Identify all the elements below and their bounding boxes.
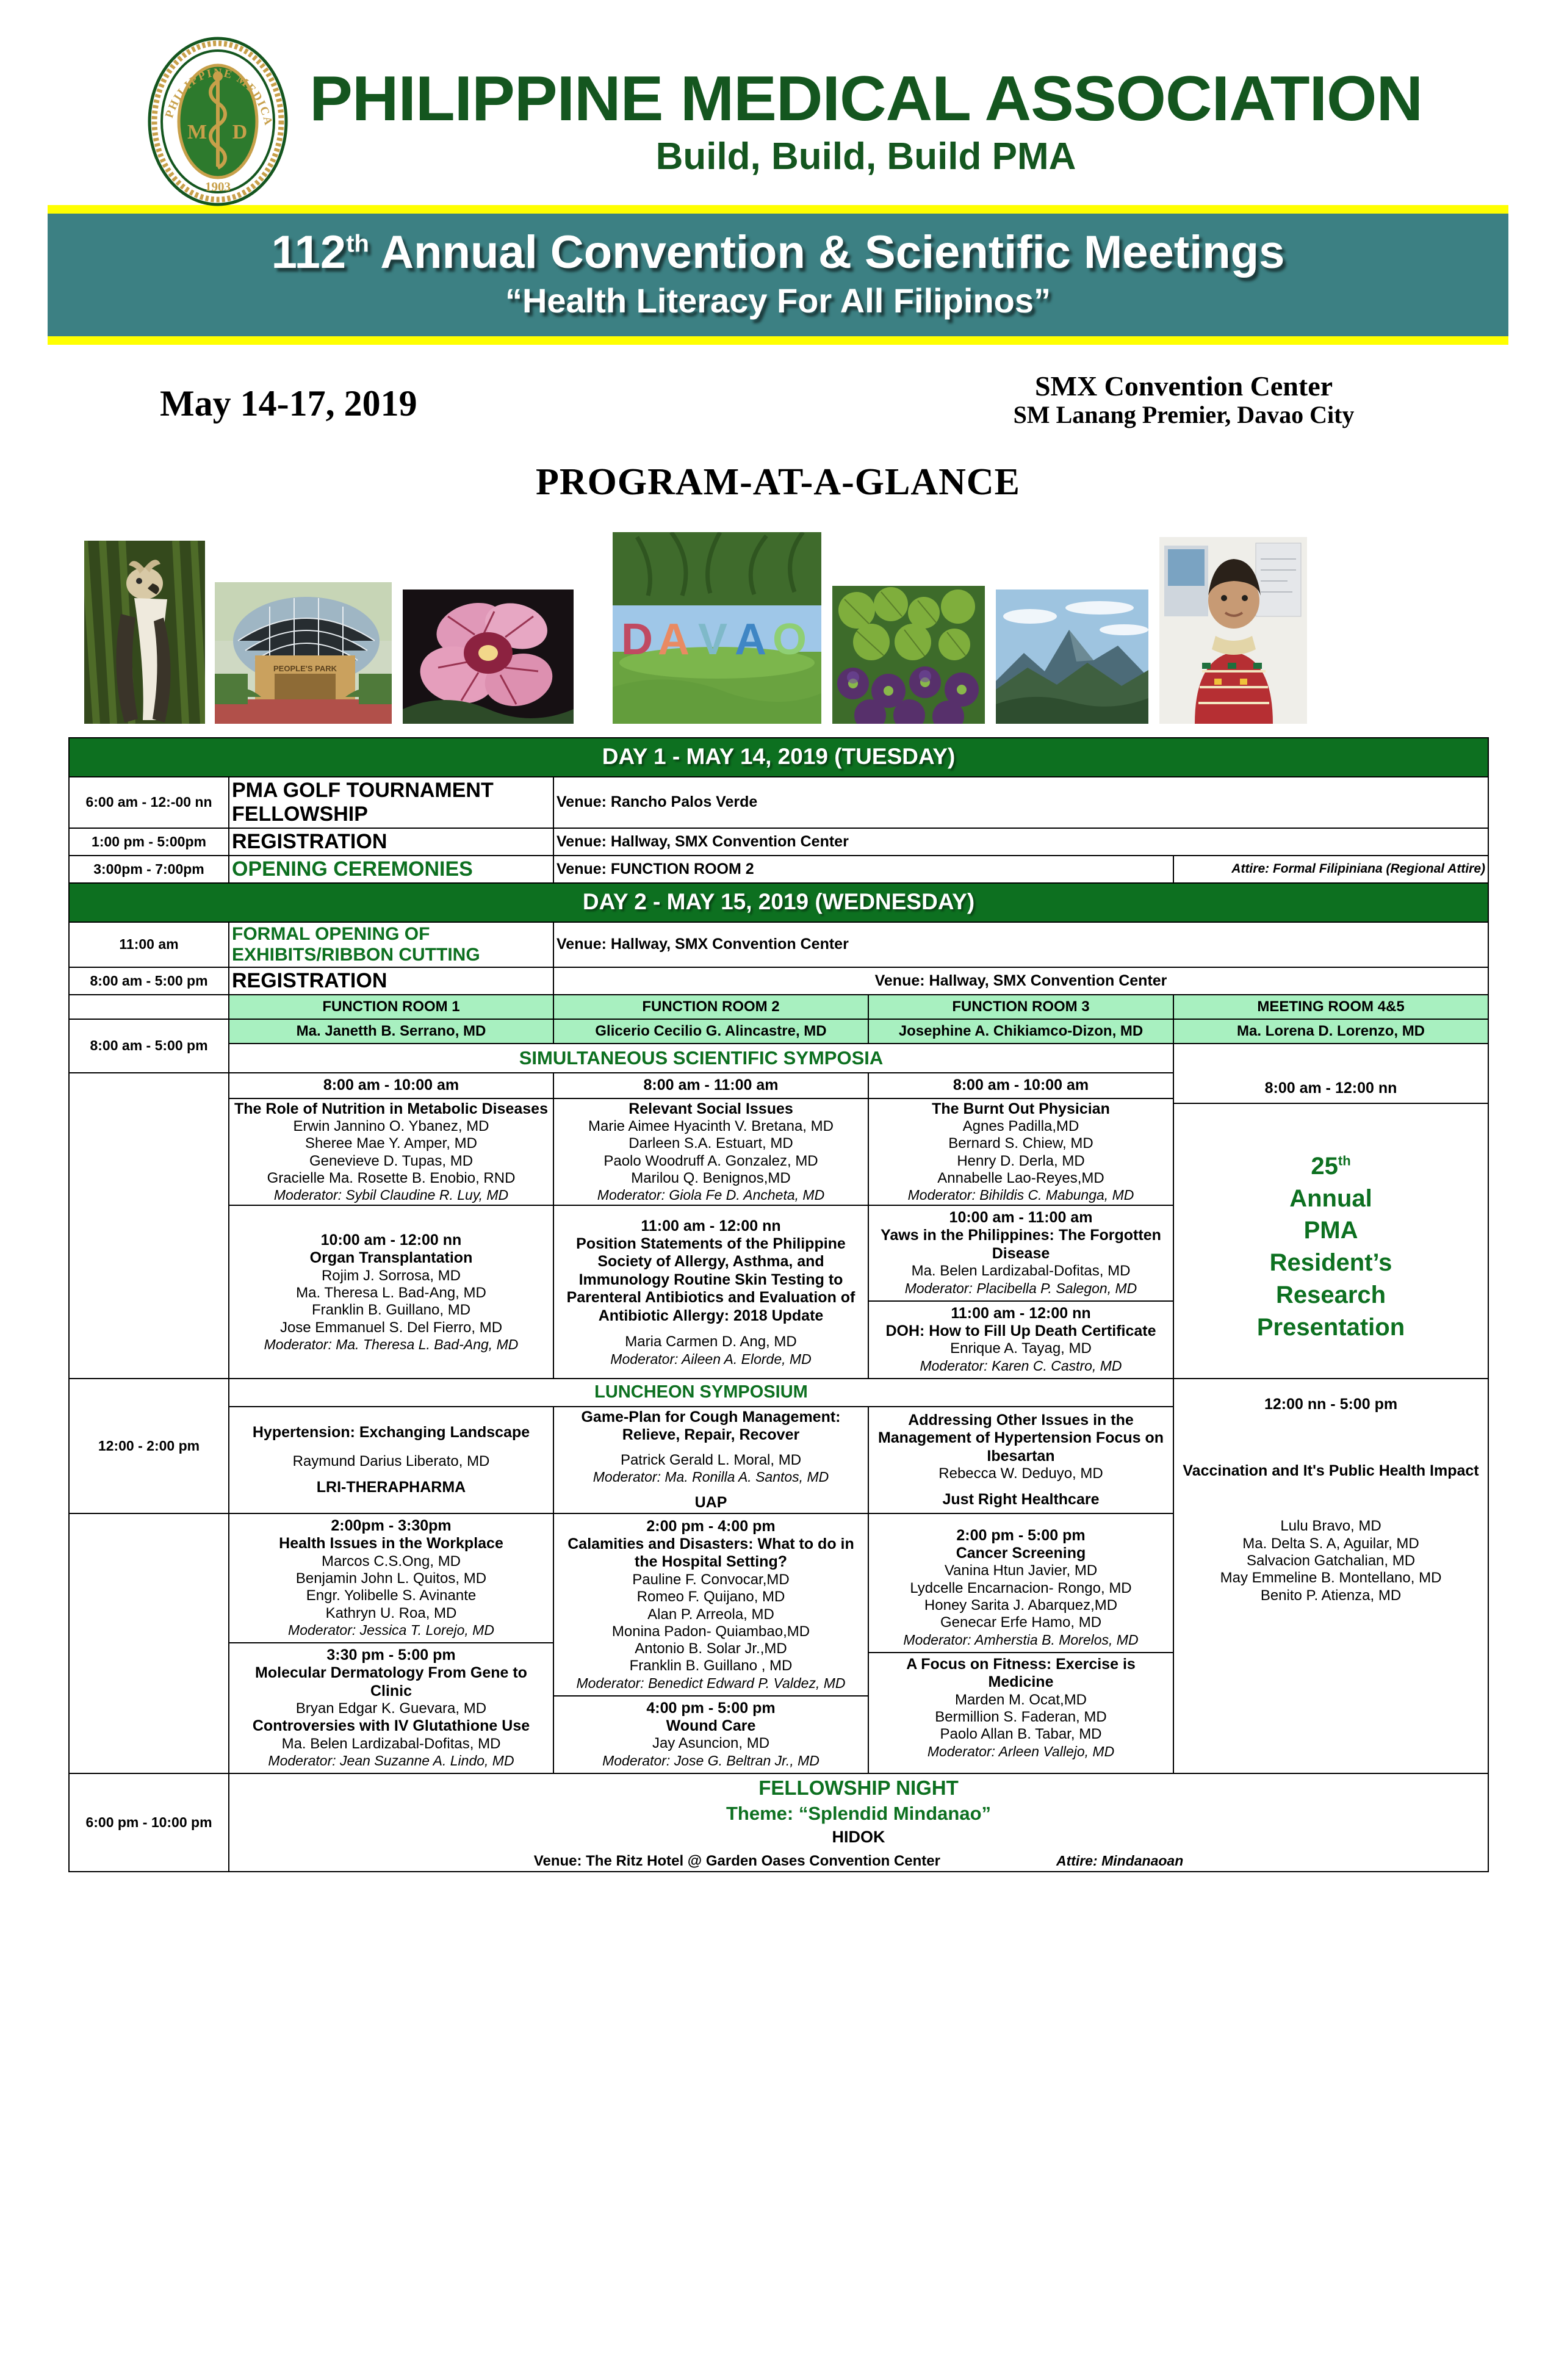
day2-reg-time: 8:00 am - 5:00 pm	[69, 967, 229, 995]
venue-line-1: SMX Convention Center	[952, 370, 1416, 402]
fellowship-night-row: 6:00 pm - 10:00 pm FELLOWSHIP NIGHT Them…	[69, 1773, 1488, 1871]
day2-row-registration: 8:00 am - 5:00 pm REGISTRATION Venue: Ha…	[69, 967, 1488, 995]
session-title: A Focus on Fitness: Exercise is Medicine	[873, 1656, 1169, 1692]
moderator: Moderator: Arleen Vallejo, MD	[873, 1744, 1169, 1760]
svg-text:1903: 1903	[205, 179, 231, 194]
page-title: PROGRAM-AT-A-GLANCE	[0, 461, 1556, 504]
session-time: 11:00 am - 12:00 nn	[873, 1304, 1169, 1322]
masthead-text: PHILIPPINE MEDICAL ASSOCIATION Build, Bu…	[320, 67, 1411, 176]
session-title: Vaccination and It's Public Health Impac…	[1176, 1462, 1485, 1480]
afternoon-room2-stack: 2:00 pm - 4:00 pm Calamities and Disaste…	[553, 1513, 868, 1773]
day1-golf-time: 6:00 am - 12:-00 nn	[69, 777, 229, 828]
room-header-time-spacer	[69, 995, 229, 1019]
session-title: Wound Care	[558, 1717, 864, 1736]
session-title-secondary: Controversies with IV Glutathione Use	[233, 1717, 549, 1736]
afternoon-room1-workplace: 2:00pm - 3:30pm Health Issues in the Wor…	[229, 1514, 553, 1643]
rrp-line-2: PMA	[1176, 1214, 1485, 1247]
speaker: Jay Asuncion, MD	[558, 1735, 864, 1752]
luncheon-room2-cough-management: Game-Plan for Cough Management: Relieve,…	[553, 1407, 868, 1513]
sponsor: LRI-THERAPHARMA	[232, 1470, 550, 1496]
davao-photo-strip: PEOPLE'S PARK	[0, 522, 1556, 724]
speaker: Rebecca W. Deduyo, MD	[871, 1465, 1170, 1482]
speaker: Lulu Bravo, MD	[1176, 1518, 1485, 1535]
svg-text:M: M	[187, 121, 207, 143]
room-header-row: FUNCTION ROOM 1 FUNCTION ROOM 2 FUNCTION…	[69, 995, 1488, 1019]
banner-title-text: Annual Convention & Scientific Meetings	[380, 226, 1284, 278]
chair-row: 8:00 am - 5:00 pm Ma. Janetth B. Serrano…	[69, 1019, 1488, 1044]
speaker: Henry D. Derla, MD	[871, 1153, 1170, 1170]
session-room1-organ-transplantation: 10:00 am - 12:00 nn Organ Transplantatio…	[229, 1205, 553, 1378]
day1-reg-time: 1:00 pm - 5:00pm	[69, 828, 229, 856]
speaker: Marden M. Ocat,MD	[873, 1692, 1169, 1709]
speaker: Kathryn U. Roa, MD	[233, 1605, 549, 1622]
day1-reg-event: REGISTRATION	[229, 828, 553, 856]
day1-golf-event: PMA GOLF TOURNAMENT FELLOWSHIP	[229, 777, 553, 828]
waling-waling-orchid-photo	[403, 590, 574, 724]
chair-function-room-3: Josephine A. Chikiamco-Dizon, MD	[868, 1019, 1173, 1044]
day1-row-registration: 1:00 pm - 5:00pm REGISTRATION Venue: Hal…	[69, 828, 1488, 856]
luncheon-symposium-label: LUNCHEON SYMPOSIUM	[229, 1379, 1173, 1407]
day2-row-exhibits: 11:00 am FORMAL OPENING OF EXHIBITS/RIBB…	[69, 922, 1488, 967]
svg-text:A: A	[735, 615, 766, 664]
day2-exhibits-venue: Venue: Hallway, SMX Convention Center	[553, 922, 1488, 967]
event-meta: May 14-17, 2019 SMX Convention Center SM…	[0, 366, 1556, 457]
speaker: Vanina Htun Javier, MD	[873, 1562, 1169, 1579]
rrp-slot-time: 8:00 am - 12:00 nn	[1173, 1076, 1489, 1104]
speaker: Patrick Gerald L. Moral, MD	[556, 1452, 865, 1469]
moderator: Moderator: Benedict Edward P. Valdez, MD	[558, 1675, 864, 1692]
session-title: Molecular Dermatology From Gene to Clini…	[233, 1664, 549, 1700]
session-time: 2:00pm - 3:30pm	[233, 1516, 549, 1535]
day1-opening-time: 3:00pm - 7:00pm	[69, 856, 229, 883]
afternoon-room3-fitness: A Focus on Fitness: Exercise is Medicine…	[869, 1653, 1173, 1764]
svg-text:O: O	[773, 615, 807, 664]
slot-room2-morning: 8:00 am - 11:00 am	[553, 1073, 868, 1098]
speaker: Jose Emmanuel S. Del Fierro, MD	[232, 1319, 550, 1336]
speaker: Ma. Belen Lardizabal-Dofitas, MD	[873, 1263, 1169, 1280]
room-header-meeting-room-45: MEETING ROOM 4&5	[1173, 995, 1488, 1019]
svg-text:D: D	[621, 615, 653, 664]
session-time: 2:00 pm - 5:00 pm	[873, 1526, 1169, 1545]
luncheon-room3-ibesartan: Addressing Other Issues in the Managemen…	[868, 1407, 1173, 1513]
luncheon-time: 12:00 - 2:00 pm	[69, 1379, 229, 1513]
speaker: Agnes Padilla,MD	[871, 1118, 1170, 1135]
fellowship-venue: Venue: The Ritz Hotel @ Garden Oases Con…	[534, 1853, 940, 1870]
chair-meeting-room-45: Ma. Lorena D. Lorenzo, MD	[1173, 1019, 1488, 1044]
speaker: Bryan Edgar K. Guevara, MD	[233, 1700, 549, 1717]
convention-banner: 112th Annual Convention & Scientific Mee…	[48, 205, 1508, 345]
day1-opening-attire: Attire: Formal Filipiniana (Regional Att…	[1173, 856, 1488, 883]
morning-time-col-spacer	[69, 1073, 229, 1379]
banner-theme: “Health Literacy For All Filipinos”	[48, 283, 1508, 319]
speaker: Marcos C.S.Ong, MD	[233, 1553, 549, 1570]
fellowship-attire: Attire: Mindanaoan	[1056, 1853, 1183, 1870]
day1-opening-event: OPENING CEREMONIES	[229, 856, 553, 883]
slot-room1-morning: 8:00 am - 10:00 am	[229, 1073, 553, 1098]
day2-exhibits-event: FORMAL OPENING OF EXHIBITS/RIBBON CUTTIN…	[229, 922, 553, 967]
banner-bottom-stripe	[48, 336, 1508, 345]
session-title: Cancer Screening	[873, 1545, 1169, 1563]
speaker: Marilou Q. Benignos,MD	[556, 1170, 865, 1187]
fellowship-detail-row: Venue: The Ritz Hotel @ Garden Oases Con…	[232, 1853, 1485, 1870]
speaker: Antonio B. Solar Jr.,MD	[558, 1640, 864, 1657]
organization-name: PHILIPPINE MEDICAL ASSOCIATION	[309, 67, 1422, 131]
speaker: Ma. Delta S. A, Aguilar, MD	[1176, 1535, 1485, 1552]
pma-seal-icon: PHILIPPINE MEDICAL ASSOCIATION 1903 M D	[145, 36, 291, 207]
rrp-number: 25	[1311, 1153, 1338, 1180]
session-room3-yaws: 10:00 am - 11:00 am Yaws in the Philippi…	[869, 1206, 1173, 1301]
moderator: Moderator: Giola Fe D. Ancheta, MD	[556, 1187, 865, 1203]
afternoon-room2-wound-care: 4:00 pm - 5:00 pm Wound Care Jay Asuncio…	[554, 1697, 868, 1773]
moderator: Moderator: Jessica T. Lorejo, MD	[233, 1622, 549, 1639]
banner-title: 112th Annual Convention & Scientific Mee…	[48, 228, 1508, 277]
moderator: Moderator: Jean Suzanne A. Lindo, MD	[233, 1753, 549, 1769]
schedule-table: DAY 1 - MAY 14, 2019 (TUESDAY) 6:00 am -…	[68, 737, 1489, 1872]
sponsor: UAP	[556, 1485, 865, 1512]
speaker: Monina Padon- Quiambao,MD	[558, 1623, 864, 1640]
rrp-line-0: 25th	[1176, 1150, 1485, 1183]
speaker: Enrique A. Tayag, MD	[873, 1340, 1169, 1357]
session-title: Relevant Social Issues	[556, 1100, 865, 1119]
pma-seal-logo: PHILIPPINE MEDICAL ASSOCIATION 1903 M D	[145, 36, 291, 207]
speaker: Benito P. Atienza, MD	[1176, 1587, 1485, 1604]
session-room3-doh-death-certificate: 11:00 am - 12:00 nn DOH: How to Fill Up …	[869, 1302, 1173, 1378]
peoples-park-photo: PEOPLE'S PARK	[215, 582, 392, 724]
morning-time-label: 8:00 am - 5:00 pm	[69, 1019, 229, 1073]
session-room3-stack: 10:00 am - 11:00 am Yaws in the Philippi…	[868, 1205, 1173, 1378]
speaker: Alan P. Arreola, MD	[558, 1606, 864, 1623]
session-time: 12:00 nn - 5:00 pm	[1176, 1395, 1485, 1413]
day1-header-row: DAY 1 - MAY 14, 2019 (TUESDAY)	[69, 738, 1488, 777]
day1-row-golf: 6:00 am - 12:-00 nn PMA GOLF TOURNAMENT …	[69, 777, 1488, 828]
session-title: Health Issues in the Workplace	[233, 1535, 549, 1553]
session-title: The Burnt Out Physician	[871, 1100, 1170, 1119]
moderator: Moderator: Bihildis C. Mabunga, MD	[871, 1187, 1170, 1203]
organization-tagline: Build, Build, Build PMA	[320, 138, 1411, 176]
day2-reg-venue: Venue: Hallway, SMX Convention Center	[553, 967, 1488, 995]
session-title: Hypertension: Exchanging Landscape	[232, 1424, 550, 1442]
fellowship-title: FELLOWSHIP NIGHT	[232, 1775, 1485, 1801]
svg-text:PEOPLE'S PARK: PEOPLE'S PARK	[273, 664, 337, 673]
afternoon-room1-stack: 2:00pm - 3:30pm Health Issues in the Wor…	[229, 1513, 553, 1773]
session-room1-nutrition: The Role of Nutrition in Metabolic Disea…	[229, 1098, 553, 1206]
speaker: Rojim J. Sorrosa, MD	[232, 1268, 550, 1285]
speaker: Maria Carmen D. Ang, MD	[556, 1333, 865, 1350]
day1-row-opening: 3:00pm - 7:00pm OPENING CEREMONIES Venue…	[69, 856, 1488, 883]
fellowship-time: 6:00 pm - 10:00 pm	[69, 1773, 229, 1871]
session-title: Calamities and Disasters: What to do in …	[558, 1535, 864, 1571]
session-title: Organ Transplantation	[232, 1249, 550, 1268]
svg-text:A: A	[658, 615, 690, 664]
fellowship-night-cell: FELLOWSHIP NIGHT Theme: “Splendid Mindan…	[229, 1773, 1488, 1871]
speaker: Romeo F. Quijano, MD	[558, 1588, 864, 1606]
event-dates: May 14-17, 2019	[160, 383, 417, 425]
day2-exhibits-time: 11:00 am	[69, 922, 229, 967]
luncheon-meeting-room-45: 12:00 nn - 5:00 pm Vaccination and It's …	[1173, 1379, 1488, 1774]
svg-text:D: D	[232, 121, 248, 143]
speaker: Annabelle Lao-Reyes,MD	[871, 1170, 1170, 1187]
speaker: Bermillion S. Faderan, MD	[873, 1709, 1169, 1726]
speaker: Paolo Allan B. Tabar, MD	[873, 1726, 1169, 1743]
luncheon-label-row: 12:00 - 2:00 pm LUNCHEON SYMPOSIUM 12:00…	[69, 1379, 1488, 1407]
chair-function-room-1: Ma. Janetth B. Serrano, MD	[229, 1019, 553, 1044]
afternoon-room3-stack: 2:00 pm - 5:00 pm Cancer Screening Vanin…	[868, 1513, 1173, 1773]
session-time: 10:00 am - 11:00 am	[873, 1208, 1169, 1227]
session-time: 4:00 pm - 5:00 pm	[558, 1699, 864, 1717]
session-title: DOH: How to Fill Up Death Certificate	[873, 1322, 1169, 1341]
speaker: Gracielle Ma. Rosette B. Enobio, RND	[232, 1170, 550, 1187]
moderator: Moderator: Aileen A. Elorde, MD	[556, 1351, 865, 1368]
speaker: Erwin Jannino O. Ybanez, MD	[232, 1118, 550, 1135]
session-title: The Role of Nutrition in Metabolic Disea…	[232, 1100, 550, 1119]
rrp-ordinal: th	[1338, 1153, 1351, 1169]
fellowship-host: HIDOK	[232, 1826, 1485, 1848]
moderator: Moderator: Jose G. Beltran Jr., MD	[558, 1753, 864, 1769]
speaker: Genevieve D. Tupas, MD	[232, 1153, 550, 1170]
speaker: Genecar Erfe Hamo, MD	[873, 1614, 1169, 1631]
banner-edition-suffix: th	[346, 231, 369, 258]
session-title: Game-Plan for Cough Management: Relieve,…	[556, 1408, 865, 1444]
session-title: Addressing Other Issues in the Managemen…	[871, 1412, 1170, 1466]
session-time: 11:00 am - 12:00 nn	[556, 1217, 865, 1235]
resident-research-presentation-cell: 8:00 am - 12:00 nn 25th Annual PMA Resid…	[1173, 1044, 1488, 1379]
day1-reg-venue: Venue: Hallway, SMX Convention Center	[553, 828, 1488, 856]
afternoon-room3-cancer-screening: 2:00 pm - 5:00 pm Cancer Screening Vanin…	[869, 1524, 1173, 1653]
day1-header: DAY 1 - MAY 14, 2019 (TUESDAY)	[69, 738, 1488, 777]
day2-reg-event: REGISTRATION	[229, 967, 553, 995]
room-header-function-room-3: FUNCTION ROOM 3	[868, 995, 1173, 1019]
rrp-line-5: Presentation	[1176, 1311, 1485, 1344]
afternoon-room1-molecular-dermatology: 3:30 pm - 5:00 pm Molecular Dermatology …	[229, 1643, 553, 1773]
rrp-line-4: Research	[1176, 1279, 1485, 1311]
speaker: Ma. Theresa L. Bad-Ang, MD	[232, 1285, 550, 1302]
session-room3-burnt-out-physician: The Burnt Out Physician Agnes Padilla,MD…	[868, 1098, 1173, 1206]
session-time: 10:00 am - 12:00 nn	[232, 1231, 550, 1249]
mount-apo-photo	[996, 590, 1148, 724]
speaker: Raymund Darius Liberato, MD	[232, 1453, 550, 1470]
session-title: Position Statements of the Philippine So…	[556, 1235, 865, 1325]
session-room2-social-issues: Relevant Social Issues Marie Aimee Hyaci…	[553, 1098, 868, 1206]
room-header-function-room-1: FUNCTION ROOM 1	[229, 995, 553, 1019]
speaker: Ma. Belen Lardizabal-Dofitas, MD	[233, 1736, 549, 1753]
masthead: PHILIPPINE MEDICAL ASSOCIATION 1903 M D …	[0, 0, 1556, 189]
day1-golf-venue: Venue: Rancho Palos Verde	[553, 777, 1488, 828]
moderator: Moderator: Sybil Claudine R. Luy, MD	[232, 1187, 550, 1203]
day1-opening-venue: Venue: FUNCTION ROOM 2	[553, 856, 1173, 883]
speaker: Bernard S. Chiew, MD	[871, 1135, 1170, 1152]
banner-edition: 112	[272, 226, 347, 278]
day2-header: DAY 2 - MAY 15, 2019 (WEDNESDAY)	[69, 883, 1488, 922]
session-time: 3:30 pm - 5:00 pm	[233, 1646, 549, 1664]
simultaneous-symposia-label: SIMULTANEOUS SCIENTIFIC SYMPOSIA	[229, 1044, 1173, 1073]
speaker: Darleen S.A. Estuart, MD	[556, 1135, 865, 1152]
session-time: 2:00 pm - 4:00 pm	[558, 1517, 864, 1535]
moderator: Moderator: Amherstia B. Morelos, MD	[873, 1632, 1169, 1648]
afternoon-time-spacer	[69, 1513, 229, 1773]
session-title: Yaws in the Philippines: The Forgotten D…	[873, 1227, 1169, 1263]
speaker: May Emmeline B. Montellano, MD	[1176, 1570, 1485, 1587]
philippine-eagle-photo	[84, 541, 205, 724]
afternoon-room2-calamities: 2:00 pm - 4:00 pm Calamities and Disaste…	[554, 1515, 868, 1697]
speaker: Sheree Mae Y. Amper, MD	[232, 1135, 550, 1152]
moderator: Moderator: Ma. Theresa L. Bad-Ang, MD	[232, 1336, 550, 1353]
speaker: Franklin B. Guillano, MD	[232, 1302, 550, 1319]
svg-text:V: V	[698, 615, 727, 664]
session-room2-position-statements: 11:00 am - 12:00 nn Position Statements …	[553, 1205, 868, 1378]
luncheon-room1-hypertension: Hypertension: Exchanging Landscape Raymu…	[229, 1407, 553, 1513]
speaker: Benjamin John L. Quitos, MD	[233, 1570, 549, 1587]
day2-header-row: DAY 2 - MAY 15, 2019 (WEDNESDAY)	[69, 883, 1488, 922]
moderator: Moderator: Placibella P. Salegon, MD	[873, 1280, 1169, 1297]
durian-mangosteen-photo	[832, 586, 985, 724]
moderator: Moderator: Karen C. Castro, MD	[873, 1358, 1169, 1374]
speaker: Salvacion Gatchalian, MD	[1176, 1552, 1485, 1570]
slot-room3-morning: 8:00 am - 10:00 am	[868, 1073, 1173, 1098]
program-at-a-glance-page: PHILIPPINE MEDICAL ASSOCIATION 1903 M D …	[0, 0, 1556, 2380]
rrp-line-1: Annual	[1176, 1183, 1485, 1215]
fellowship-theme: Theme: “Splendid Mindanao”	[232, 1801, 1485, 1826]
davao-sign-photo: D A V A O	[613, 532, 821, 724]
sponsor: Just Right Healthcare	[871, 1482, 1170, 1509]
speaker: Honey Sarita J. Abarquez,MD	[873, 1597, 1169, 1614]
chair-function-room-2: Glicerio Cecilio G. Alincastre, MD	[553, 1019, 868, 1044]
banner-body: 112th Annual Convention & Scientific Mee…	[48, 214, 1508, 336]
event-venue: SMX Convention Center SM Lanang Premier,…	[952, 370, 1416, 429]
venue-line-2: SM Lanang Premier, Davao City	[952, 402, 1416, 429]
speaker: Marie Aimee Hyacinth V. Bretana, MD	[556, 1118, 865, 1135]
speaker: Franklin B. Guillano , MD	[558, 1657, 864, 1675]
moderator: Moderator: Ma. Ronilla A. Santos, MD	[556, 1469, 865, 1485]
room-header-function-room-2: FUNCTION ROOM 2	[553, 995, 868, 1019]
speaker: Lydcelle Encarnacion- Rongo, MD	[873, 1580, 1169, 1597]
speaker: Pauline F. Convocar,MD	[558, 1571, 864, 1588]
speaker: Engr. Yolibelle S. Avinante	[233, 1587, 549, 1604]
lumad-woman-photo	[1159, 537, 1307, 724]
rrp-line-3: Resident’s	[1176, 1247, 1485, 1279]
simultaneous-symposia-row: SIMULTANEOUS SCIENTIFIC SYMPOSIA 8:00 am…	[69, 1044, 1488, 1073]
speaker: Paolo Woodruff A. Gonzalez, MD	[556, 1153, 865, 1170]
